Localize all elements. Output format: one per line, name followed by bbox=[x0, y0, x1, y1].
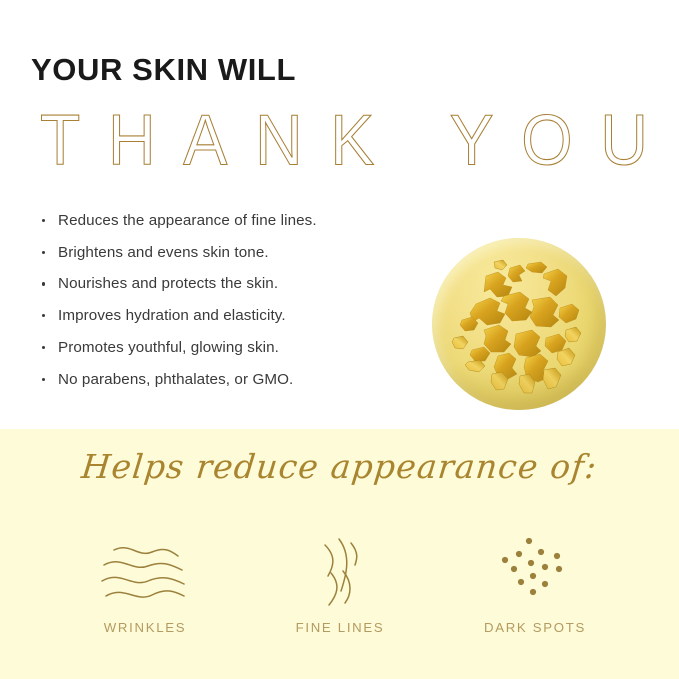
list-item: Nourishes and protects the skin. bbox=[41, 275, 421, 293]
concern-label: WRINKLES bbox=[60, 620, 230, 635]
wrinkles-waves-icon bbox=[60, 532, 230, 612]
list-item: Reduces the appearance of fine lines. bbox=[41, 212, 421, 230]
list-item: Brightens and evens skin tone. bbox=[41, 244, 421, 262]
bottom-section: Helps reduce appearance of: WRINKLES bbox=[0, 429, 679, 679]
headline-thank-you: THANKYOU bbox=[40, 103, 648, 172]
product-image bbox=[432, 238, 606, 410]
concern-fine-lines: FINE LINES bbox=[255, 532, 425, 635]
concern-label: FINE LINES bbox=[255, 620, 425, 635]
benefits-list: Reduces the appearance of fine lines. Br… bbox=[41, 212, 421, 402]
concern-label: DARK SPOTS bbox=[450, 620, 620, 635]
fine-lines-strokes-icon bbox=[255, 532, 425, 612]
list-item: Improves hydration and elasticity. bbox=[41, 307, 421, 325]
gold-circle-icon bbox=[432, 238, 606, 410]
product-infographic: YOUR SKIN WILL THANKYOU THANK YOU Reduce… bbox=[0, 0, 679, 679]
list-item: Promotes youthful, glowing skin. bbox=[41, 339, 421, 357]
dark-spots-dots-icon bbox=[450, 532, 620, 612]
concern-wrinkles: WRINKLES bbox=[60, 532, 230, 635]
top-section: YOUR SKIN WILL THANKYOU THANK YOU Reduce… bbox=[0, 0, 679, 429]
concerns-icon-row: WRINKLES FINE LINES bbox=[60, 532, 620, 635]
section-heading: Helps reduce appearance of: bbox=[0, 447, 679, 486]
list-item: No parabens, phthalates, or GMO. bbox=[41, 371, 421, 389]
concern-dark-spots: DARK SPOTS bbox=[450, 532, 620, 635]
gold-flakes-icon bbox=[432, 238, 606, 410]
page-title: YOUR SKIN WILL bbox=[31, 54, 296, 85]
